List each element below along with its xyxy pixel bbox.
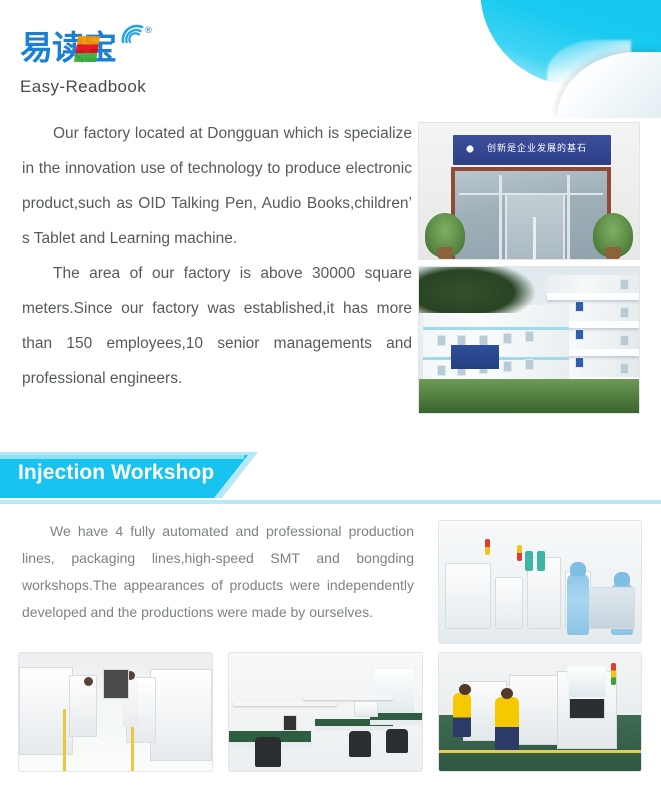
office-sign-logo-icon <box>463 142 477 156</box>
factory-office-entrance-photo: 创新是企业发展的基石 <box>418 122 640 260</box>
logo-mark: 易读宝 ® <box>20 26 166 74</box>
intro-paragraph-1: Our factory located at Dongguan which is… <box>22 116 412 256</box>
smt-workshop-photo <box>438 652 642 772</box>
injection-text-block: We have 4 fully automated and profession… <box>22 518 414 626</box>
injection-workshop-banner: Injection Workshop <box>0 452 300 498</box>
office-sign-text: 创新是企业发展的基石 <box>487 141 587 154</box>
testing-lab-photo <box>228 652 423 772</box>
wifi-signal-icon <box>120 22 146 44</box>
office-sign-banner: 创新是企业发展的基石 <box>453 135 611 165</box>
brand-logo: 易读宝 ® Easy-Readbook <box>20 26 170 100</box>
logo-chinese-characters: 易读宝 <box>20 26 116 70</box>
banner-title-label: Injection Workshop <box>18 461 214 485</box>
banner-top-highlight <box>0 455 244 459</box>
production-line-photo <box>18 652 213 772</box>
page-curl-gloss <box>547 40 631 96</box>
factory-building-photo <box>418 266 640 414</box>
injection-paragraph-1: We have 4 fully automated and profession… <box>22 518 414 626</box>
registered-trademark-icon: ® <box>144 26 153 36</box>
brand-name-label: Easy-Readbook <box>20 77 170 97</box>
intro-text-block: Our factory located at Dongguan which is… <box>22 116 412 396</box>
logo-color-stripe <box>74 36 100 62</box>
company-profile-page: 易读宝 ® Easy-Readbook Our factory located … <box>0 0 661 800</box>
page-curl-sheet <box>481 0 661 88</box>
page-curl-decoration <box>481 0 661 118</box>
smt-cleanroom-photo <box>438 520 642 644</box>
intro-paragraph-2: The area of our factory is above 30000 s… <box>22 256 412 396</box>
section-divider-rule <box>0 500 661 504</box>
page-curl-fold <box>557 52 661 118</box>
